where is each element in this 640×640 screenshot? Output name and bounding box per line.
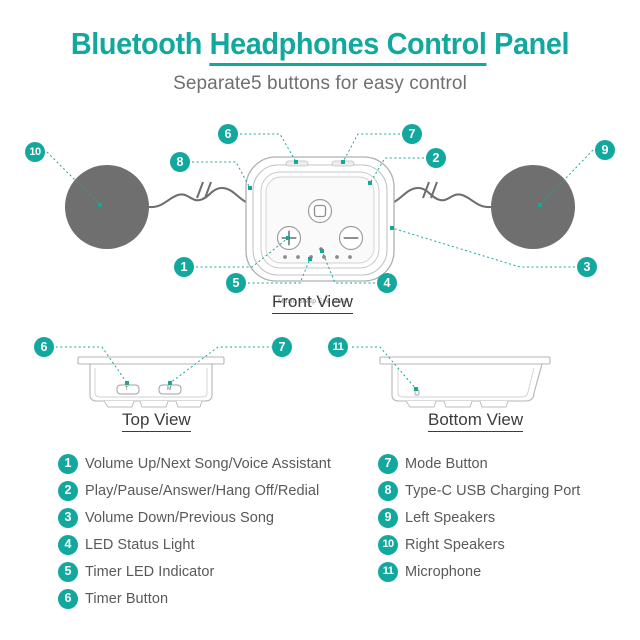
bottom-view-section: 11 Bottom View [320,335,640,445]
legend-badge-8: 8 [378,481,398,501]
legend-badge-6: 6 [58,589,78,609]
legend-label-10: Right Speakers [405,537,505,553]
top-view-lid [78,357,224,364]
right-cable-break [423,182,437,198]
left-speaker-shape [491,165,575,249]
legend-badge-4: 4 [58,535,78,555]
callout-6-timer-button[interactable]: 6 [218,124,238,144]
legend: 1 Volume Up/Next Song/Voice Assistant 2 … [0,450,640,640]
legend-label-8: Type-C USB Charging Port [405,483,580,499]
legend-badge-3: 3 [58,508,78,528]
legend-label-2: Play/Pause/Answer/Hang Off/Redial [85,483,319,499]
callout-9-left-speaker[interactable]: 9 [595,140,615,160]
callout-7-top-mode[interactable]: 7 [272,337,292,357]
list-item[interactable]: 11 Microphone [378,558,638,585]
legend-badge-9: 9 [378,508,398,528]
legend-label-4: LED Status Light [85,537,195,553]
legend-label-6: Timer Button [85,591,168,607]
timer-led-dot [283,255,287,259]
top-view-section: T M 6 7 Top View [0,335,320,445]
callout-8-usb-port[interactable]: 8 [170,152,190,172]
list-item[interactable]: 3 Volume Down/Previous Song [58,504,378,531]
list-item[interactable]: 5 Timer LED Indicator [58,558,378,585]
legend-label-9: Left Speakers [405,510,495,526]
list-item[interactable]: 9 Left Speakers [378,504,638,531]
legend-badge-1: 1 [58,454,78,474]
front-view-label: Front View [272,292,353,314]
bottom-view-label: Bottom View [428,410,523,432]
list-item[interactable]: 10 Right Speakers [378,531,638,558]
legend-column-right: 7 Mode Button 8 Type-C USB Charging Port… [378,450,638,585]
callout-1-volume-up[interactable]: 1 [174,257,194,277]
callout-2-play-pause[interactable]: 2 [426,148,446,168]
legend-badge-2: 2 [58,481,78,501]
list-item[interactable]: 1 Volume Up/Next Song/Voice Assistant [58,450,378,477]
title-part-tail: Panel [486,26,569,61]
top-view-body [90,364,212,401]
callout-7-mode-button[interactable]: 7 [402,124,422,144]
callout-4-led-status[interactable]: 4 [377,273,397,293]
legend-column-left: 1 Volume Up/Next Song/Voice Assistant 2 … [58,450,378,612]
legend-label-7: Mode Button [405,456,488,472]
page-header: Bluetooth Headphones Control Panel Separ… [0,0,640,95]
legend-label-11: Microphone [405,564,481,580]
legend-label-5: Timer LED Indicator [85,564,214,580]
front-view-drawing [0,110,640,310]
callout-11-microphone[interactable]: 11 [328,337,348,357]
bottom-view-lid [380,357,550,364]
callout-10-right-speaker[interactable]: 10 [25,142,45,162]
timer-led-dot [335,255,339,259]
timer-led-dot [348,255,352,259]
top-button-mode-label: M [167,386,172,392]
legend-label-3: Volume Down/Previous Song [85,510,274,526]
legend-badge-5: 5 [58,562,78,582]
callout-6-top-timer[interactable]: 6 [34,337,54,357]
callout-5-timer-led[interactable]: 5 [226,273,246,293]
front-view-diagram: Music Sleep Eye Mask 10 8 6 7 2 9 1 5 4 … [0,110,640,310]
top-view-label: Top View [122,410,191,432]
bottom-view-body [392,364,542,401]
legend-label-1: Volume Up/Next Song/Voice Assistant [85,456,331,472]
list-item[interactable]: 8 Type-C USB Charging Port [378,477,638,504]
title-part-plain: Bluetooth [71,26,210,61]
callout-3-volume-down[interactable]: 3 [577,257,597,277]
top-button-timer-label: T [125,386,128,392]
right-cable [394,188,491,207]
list-item[interactable]: 4 LED Status Light [58,531,378,558]
page-title: Bluetooth Headphones Control Panel [22,0,617,59]
right-speaker-shape [65,165,149,249]
legend-badge-7: 7 [378,454,398,474]
legend-badge-11: 11 [378,562,398,582]
infographic-page: Bluetooth Headphones Control Panel Separ… [0,0,640,640]
list-item[interactable]: 7 Mode Button [378,450,638,477]
list-item[interactable]: 2 Play/Pause/Answer/Hang Off/Redial [58,477,378,504]
legend-badge-10: 10 [378,535,398,555]
list-item[interactable]: 6 Timer Button [58,585,378,612]
title-part-underlined: Headphones Control [210,26,487,66]
play-pause-button-shape [309,200,332,223]
timer-led-dot [296,255,300,259]
